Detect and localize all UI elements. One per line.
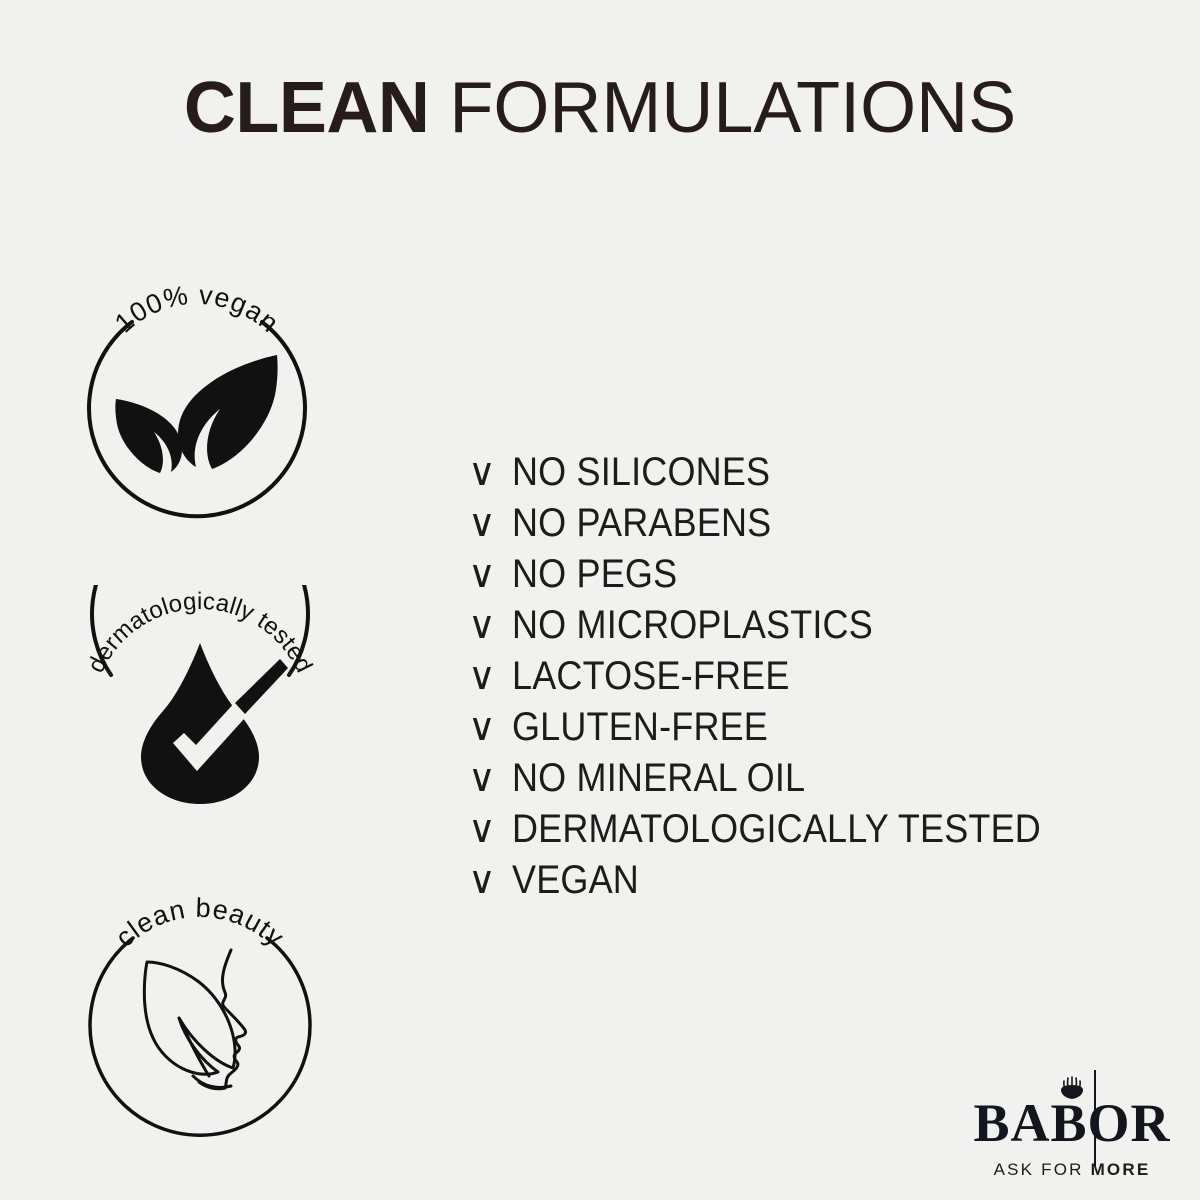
- badge-clean-label: clean beauty: [110, 893, 291, 953]
- badge-dermatologically-tested: dermatologically tested: [75, 585, 325, 835]
- tagline-bold: MORE: [1091, 1160, 1151, 1179]
- page-title-light: FORMULATIONS: [429, 68, 1016, 148]
- droplet-check-icon: [141, 643, 288, 804]
- list-item: ∨ LACTOSE-FREE: [468, 656, 1168, 707]
- brand-logo: BABOR ASK FOR MORE: [972, 1074, 1172, 1180]
- check-icon: ∨: [468, 811, 512, 849]
- list-item: ∨ NO MICROPLASTICS: [468, 605, 1168, 656]
- list-item-label: VEGAN: [512, 860, 639, 900]
- list-item: ∨ VEGAN: [468, 860, 1168, 911]
- list-item: ∨ DERMATOLOGICALLY TESTED: [468, 809, 1168, 860]
- list-item: ∨ NO PEGS: [468, 554, 1168, 605]
- badge-ring-clean: [90, 938, 310, 1135]
- badge-clean-beauty: clean beauty: [75, 890, 325, 1140]
- list-item: ∨ NO PARABENS: [468, 503, 1168, 554]
- list-item-label: NO SILICONES: [512, 452, 770, 492]
- list-item: ∨ NO MINERAL OIL: [468, 758, 1168, 809]
- page-title-bold: CLEAN: [184, 68, 430, 148]
- list-item-label: DERMATOLOGICALLY TESTED: [512, 809, 1041, 849]
- list-item-label: NO PEGS: [512, 554, 677, 594]
- list-item-label: LACTOSE-FREE: [512, 656, 790, 696]
- checklist: ∨ NO SILICONES ∨ NO PARABENS ∨ NO PEGS ∨…: [468, 452, 1168, 911]
- brand-name: BABOR: [973, 1093, 1170, 1153]
- list-item: ∨ GLUTEN-FREE: [468, 707, 1168, 758]
- check-icon: ∨: [468, 709, 512, 747]
- list-item-label: GLUTEN-FREE: [512, 707, 768, 747]
- check-icon: ∨: [468, 760, 512, 798]
- badge-vegan: 100% vegan: [72, 277, 322, 527]
- two-leaves-icon: [115, 355, 277, 473]
- check-icon: ∨: [468, 862, 512, 900]
- tagline-light: ASK FOR: [994, 1160, 1091, 1179]
- list-item-label: NO PARABENS: [512, 503, 771, 543]
- badge-vegan-label: 100% vegan: [109, 280, 285, 339]
- list-item: ∨ NO SILICONES: [468, 452, 1168, 503]
- rose-stem-icon: [1094, 1070, 1096, 1166]
- poster-canvas: CLEAN FORMULATIONS 100% vegan: [0, 0, 1200, 1200]
- check-icon: ∨: [468, 607, 512, 645]
- check-icon: ∨: [468, 658, 512, 696]
- brand-tagline: ASK FOR MORE: [972, 1160, 1172, 1180]
- brand-wordmark: BABOR: [972, 1096, 1172, 1152]
- page-title: CLEAN FORMULATIONS: [0, 72, 1200, 144]
- check-icon: ∨: [468, 505, 512, 543]
- list-item-label: NO MICROPLASTICS: [512, 605, 873, 645]
- check-icon: ∨: [468, 556, 512, 594]
- list-item-label: NO MINERAL OIL: [512, 758, 805, 798]
- check-icon: ∨: [468, 454, 512, 492]
- face-leaf-icon: [144, 950, 245, 1089]
